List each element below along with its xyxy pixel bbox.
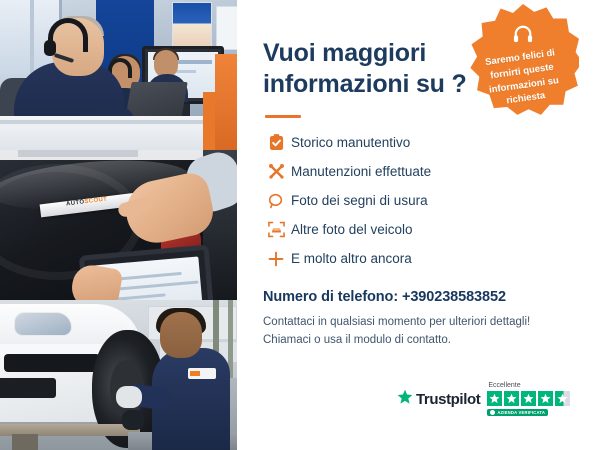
verified-label: AZIENDA VERIFICATA [497,410,545,415]
page-title: Vuoi maggiori informazioni su ? [263,38,478,99]
star-partial-5 [555,391,570,406]
mechanic-head [160,312,202,358]
list-item: Altre foto del veicolo [263,219,576,240]
title-divider [265,115,301,118]
list-item: Foto dei segni di usura [263,190,576,211]
trustpilot-wordmark: Trustpilot [416,391,480,408]
mechanic-uniform-badge [188,368,216,379]
request-info-badge: Saremo felici di fornirti queste informa… [467,4,579,116]
content-panel: Vuoi maggiori informazioni su ? Saremo f… [237,0,600,450]
desk-edge [0,120,237,124]
badge-text: Saremo felici di fornirti queste informa… [477,45,570,111]
contact-line-2: Chiamaci o usa il modulo di contatto. [263,332,576,350]
car-grille [4,354,100,372]
contact-line-1: Contattaci in qualsiasi momento per ulte… [263,314,576,332]
feature-label: Storico manutentivo [289,135,410,150]
verified-check-icon [490,410,495,415]
feature-list: Storico manutentivo Manutenzioni effettu… [263,132,576,269]
photo-strip: AUTOSCOUT [0,0,237,450]
trustpilot-logo: Trustpilot [397,389,480,410]
star-filled-3 [521,391,536,406]
wall-poster-secondary [216,6,237,50]
car-headlight [14,312,72,336]
feature-label: Manutenzioni effettuate [289,164,431,179]
clipboard-check-icon [263,134,289,151]
star-rating [487,391,570,406]
photo-call-center [0,0,237,150]
list-item: Manutenzioni effettuate [263,161,576,182]
upper-light-strip-2 [18,150,138,157]
feature-label: Altre foto del veicolo [289,222,413,237]
photo-body-inspection: AUTOSCOUT [0,150,237,300]
photo-wheel-inspection [0,300,237,450]
orange-shelving [215,54,237,150]
list-item: Storico manutentivo [263,132,576,153]
feature-label: Foto dei segni di usura [289,193,428,208]
mechanic-glove [116,386,142,408]
magnifier-icon [263,193,289,209]
trustpilot-widget[interactable]: Trustpilot Eccellente [397,382,570,416]
status-badge: AZIENDA VERIFICATA [487,409,548,416]
contact-copy: Contattaci in qualsiasi momento per ulte… [263,314,576,350]
star-filled-2 [504,391,519,406]
phone-number-label: Numero di telefono: +390238583852 [263,289,576,305]
crossed-tools-icon [263,163,289,180]
promo-card: AUTOSCOUT [0,0,600,450]
rating-label: Eccellente [488,382,520,389]
headset-icon [512,24,534,49]
orange-shelving-2 [203,92,215,150]
car-lower-grille [0,378,56,398]
star-filled-1 [487,391,502,406]
plus-icon [263,251,289,267]
trustpilot-star-icon [397,389,413,410]
feature-label: E molto altro ancora [289,251,412,266]
car-scan-frame-icon [263,221,289,238]
star-filled-4 [538,391,553,406]
trustpilot-rating: Eccellente [487,382,570,416]
mechanic-glove-2 [122,410,144,430]
vehicle-lift-column [12,434,38,450]
list-item: E molto altro ancora [263,248,576,269]
